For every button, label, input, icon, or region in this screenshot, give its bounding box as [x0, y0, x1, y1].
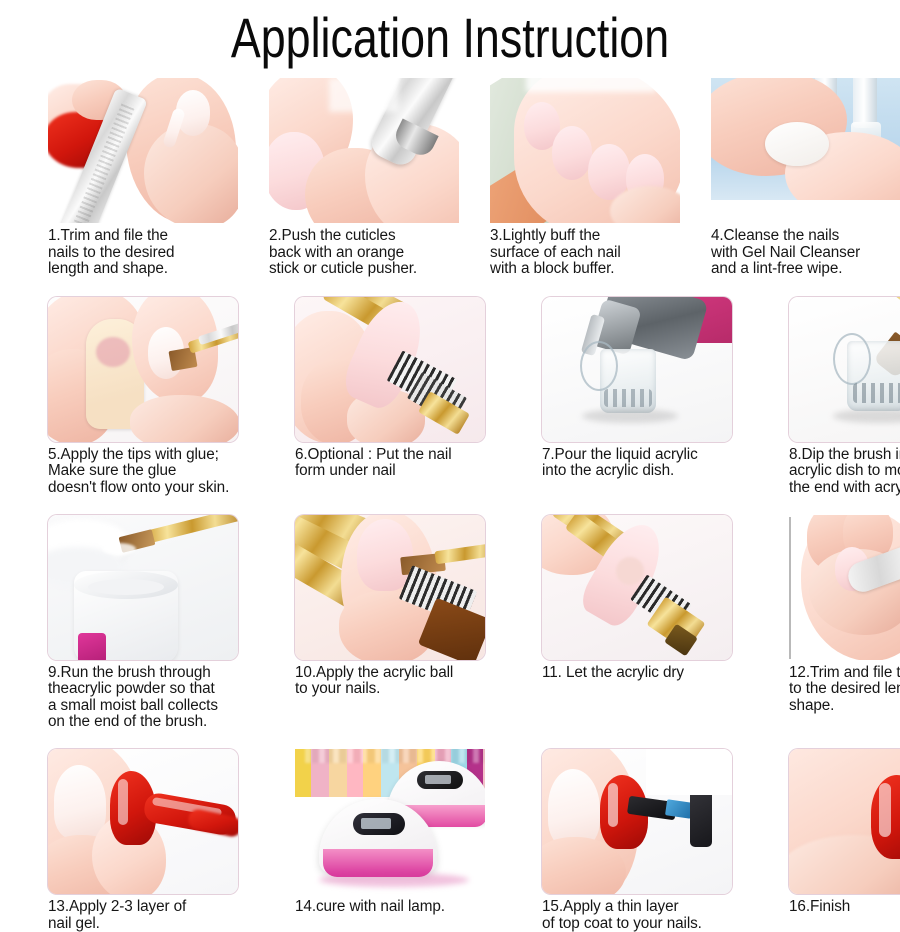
step-image-9: [48, 515, 238, 660]
step-cell-2: 2.Push the cuticles back with an orange …: [269, 78, 474, 278]
step-image-15: [542, 749, 732, 894]
step-caption-11: 11. Let the acrylic dry: [542, 665, 747, 682]
page-title: Application Instruction: [90, 6, 810, 70]
step-cell-6: 6.Optional : Put the nail form under nai…: [295, 297, 500, 497]
step-caption-16: 16.Finish: [789, 899, 900, 916]
step-cell-15: 15.Apply a thin layer of top coat to you…: [542, 749, 747, 932]
step-image-7: [542, 297, 732, 442]
step-cell-10: 10.Apply the acrylic ball to your nails.: [295, 515, 500, 731]
step-image-8: [789, 297, 900, 442]
step-cell-12: 12.Trim and file the nails to the desire…: [789, 515, 900, 731]
step-caption-1: 1.Trim and file the nails to the desired…: [48, 228, 253, 278]
step-caption-14: 14.cure with nail lamp.: [295, 899, 500, 916]
instruction-poster: Application Instruction: [0, 0, 900, 900]
step-caption-5: 5.Apply the tips with glue; Make sure th…: [48, 447, 253, 497]
steps-row-2: 5.Apply the tips with glue; Make sure th…: [0, 297, 900, 497]
step-cell-8: 8.Dip the brush into the acrylic dish to…: [789, 297, 900, 497]
step-caption-4: 4.Cleanse the nails with Gel Nail Cleans…: [711, 228, 900, 278]
step-image-5: [48, 297, 238, 442]
step-cell-13: 13.Apply 2-3 layer of nail gel.: [48, 749, 253, 932]
step-caption-12: 12.Trim and file the nails to the desire…: [789, 665, 900, 715]
step-caption-3: 3.Lightly buff the surface of each nail …: [490, 228, 695, 278]
step-caption-10: 10.Apply the acrylic ball to your nails.: [295, 665, 500, 698]
step-caption-9: 9.Run the brush through theacrylic powde…: [48, 665, 253, 731]
step-image-11: [542, 515, 732, 660]
step-cell-3: 3.Lightly buff the surface of each nail …: [490, 78, 695, 278]
step-cell-1: 1.Trim and file the nails to the desired…: [48, 78, 253, 278]
step-caption-6: 6.Optional : Put the nail form under nai…: [295, 447, 500, 480]
step-image-14: [295, 749, 485, 894]
step-image-2: [269, 78, 459, 223]
steps-row-4: 13.Apply 2-3 layer of nail gel.: [0, 749, 900, 932]
step-caption-7: 7.Pour the liquid acrylic into the acryl…: [542, 447, 747, 480]
step-cell-11: 11. Let the acrylic dry: [542, 515, 747, 731]
step-caption-15: 15.Apply a thin layer of top coat to you…: [542, 899, 747, 932]
step-image-4: [711, 78, 900, 223]
step-cell-16: 16.Finish: [789, 749, 900, 932]
step-caption-8: 8.Dip the brush into the acrylic dish to…: [789, 447, 900, 497]
step-image-6: [295, 297, 485, 442]
step-cell-7: 7.Pour the liquid acrylic into the acryl…: [542, 297, 747, 497]
step-image-16: [789, 749, 900, 894]
steps-grid: 1.Trim and file the nails to the desired…: [0, 78, 900, 932]
step-caption-13: 13.Apply 2-3 layer of nail gel.: [48, 899, 253, 932]
step-caption-2: 2.Push the cuticles back with an orange …: [269, 228, 474, 278]
step-image-10: [295, 515, 485, 660]
step-cell-9: 9.Run the brush through theacrylic powde…: [48, 515, 253, 731]
steps-row-1: 1.Trim and file the nails to the desired…: [0, 78, 900, 278]
step-image-13: [48, 749, 238, 894]
steps-row-3: 9.Run the brush through theacrylic powde…: [0, 515, 900, 731]
step-cell-14: 14.cure with nail lamp.: [295, 749, 500, 932]
step-image-3: [490, 78, 680, 223]
step-cell-4: 4.Cleanse the nails with Gel Nail Cleans…: [711, 78, 900, 278]
step-image-1: [48, 78, 238, 223]
step-image-12: [789, 515, 900, 660]
step-cell-5: 5.Apply the tips with glue; Make sure th…: [48, 297, 253, 497]
